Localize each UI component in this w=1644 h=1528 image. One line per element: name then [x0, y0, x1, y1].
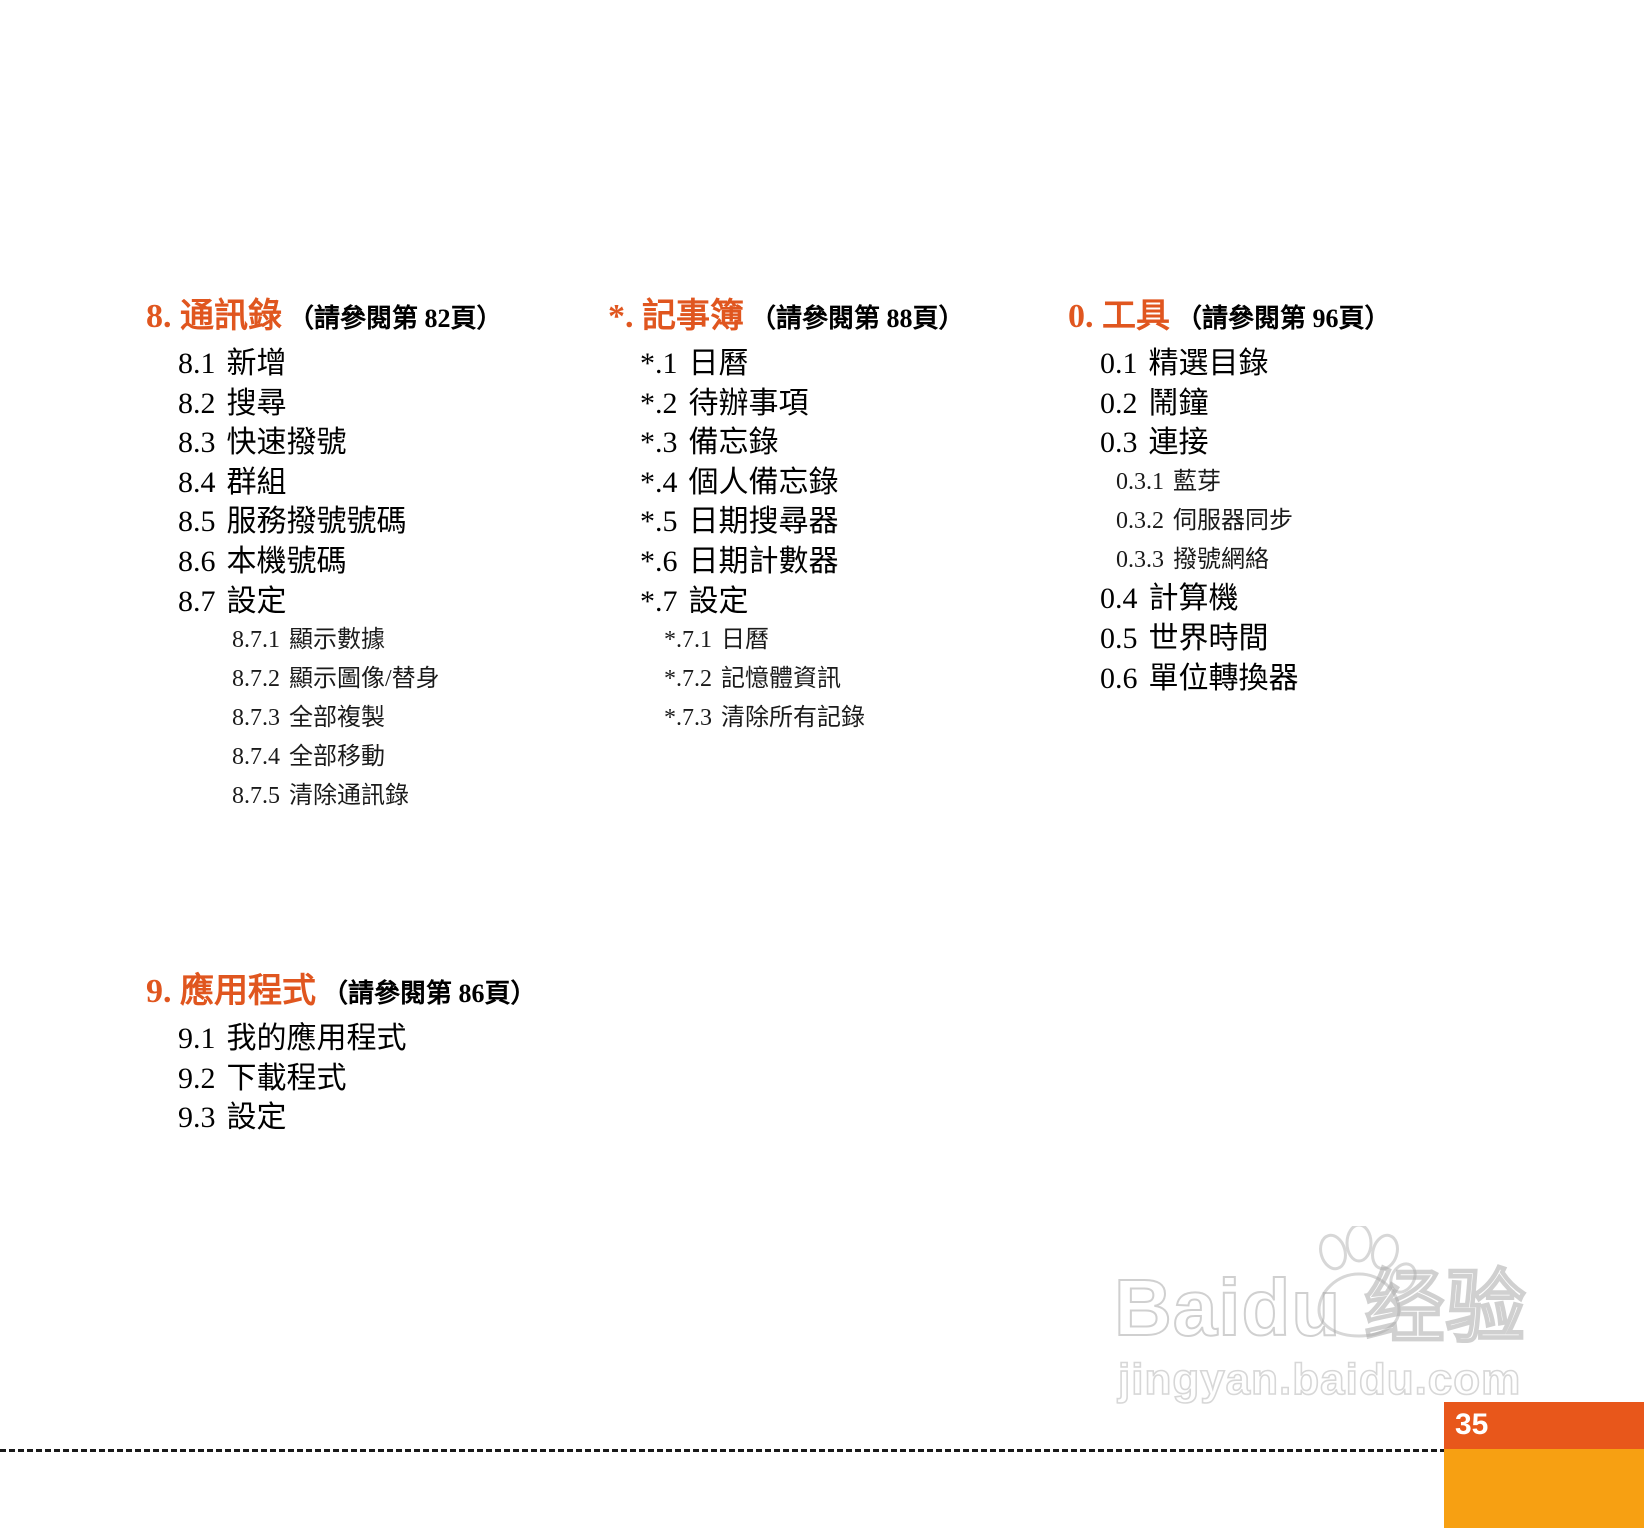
subitem-number: 0.3.3 — [1116, 547, 1164, 573]
section-heading-organizer: *. 記事簿（請參閱第 88頁） — [608, 300, 1058, 334]
subitem-number: 0.3.1 — [1116, 469, 1164, 495]
toc-item: 8.7設定 — [178, 582, 596, 622]
toc-item: *.4個人備忘錄 — [640, 463, 1058, 503]
subitem-label: 記憶體資訊 — [721, 666, 841, 692]
toc-section-tools: 0. 工具（請參閱第 96頁） 0.1精選目錄 0.2鬧鐘 0.3連接 0.3.… — [1068, 300, 1538, 698]
section-page-reference: （請參閱第 82頁） — [288, 304, 503, 333]
subitem-label: 藍芽 — [1173, 469, 1221, 495]
item-number: 8.6 — [178, 545, 216, 578]
subitem-number: 0.3.2 — [1116, 508, 1164, 534]
item-label: 鬧鐘 — [1149, 387, 1209, 420]
toc-item: 8.4群組 — [178, 463, 596, 503]
toc-subitem: *.7.3清除所有記錄 — [664, 699, 1058, 738]
section-page-reference: （請參閱第 88頁） — [750, 304, 965, 333]
toc-item: 8.3快速撥號 — [178, 423, 596, 463]
toc-item: 9.2下載程式 — [178, 1059, 646, 1099]
section-page-reference: （請參閱第 96頁） — [1176, 304, 1391, 333]
item-label: 世界時間 — [1149, 622, 1269, 655]
item-number: *.3 — [640, 426, 678, 459]
item-label: 備忘錄 — [689, 426, 779, 459]
item-label: 設定 — [227, 1101, 287, 1134]
toc-item: 9.1我的應用程式 — [178, 1019, 646, 1059]
subitem-label: 撥號網絡 — [1173, 547, 1269, 573]
item-label: 下載程式 — [227, 1062, 347, 1095]
item-label: 精選目錄 — [1149, 347, 1269, 380]
item-label: 日曆 — [689, 347, 749, 380]
toc-item: *.7設定 — [640, 582, 1058, 622]
item-number: 8.2 — [178, 387, 216, 420]
toc-subitem: *.7.1日曆 — [664, 621, 1058, 660]
item-label: 日期計數器 — [689, 545, 839, 578]
page-tab-bottom-block — [1444, 1449, 1644, 1528]
item-label: 日期搜尋器 — [689, 505, 839, 538]
item-number: *.4 — [640, 466, 678, 499]
toc-item: 0.1精選目錄 — [1100, 344, 1538, 384]
item-number: *.5 — [640, 505, 678, 538]
toc-item: 0.3連接 — [1100, 423, 1538, 463]
section-title: *. 記事簿 — [608, 298, 744, 335]
item-number: 0.3 — [1100, 426, 1138, 459]
subitem-number: 8.7.5 — [232, 783, 280, 809]
toc-subitem: 8.7.2顯示圖像/替身 — [232, 660, 596, 699]
item-label: 我的應用程式 — [227, 1022, 407, 1055]
page-cut-dashed-line — [0, 1449, 1644, 1452]
item-label: 連接 — [1149, 426, 1209, 459]
toc-subitem: 8.7.1顯示數據 — [232, 621, 596, 660]
item-label: 待辦事項 — [689, 387, 809, 420]
item-number: 9.1 — [178, 1022, 216, 1055]
page-number-tab: 35 — [1444, 1402, 1644, 1528]
toc-subitem: 0.3.3撥號網絡 — [1116, 541, 1538, 580]
item-number: 0.2 — [1100, 387, 1138, 420]
paw-print-icon — [1297, 1226, 1417, 1346]
toc-item: 0.5世界時間 — [1100, 619, 1538, 659]
item-number: 8.5 — [178, 505, 216, 538]
item-number: *.1 — [640, 347, 678, 380]
item-label: 群組 — [227, 466, 287, 499]
toc-item: 8.6本機號碼 — [178, 542, 596, 582]
item-label: 服務撥號號碼 — [227, 505, 407, 538]
item-label: 單位轉換器 — [1149, 662, 1299, 695]
section-title: 9. 應用程式 — [146, 973, 316, 1010]
item-number: *.6 — [640, 545, 678, 578]
section-heading-applications: 9. 應用程式（請參閱第 86頁） — [146, 975, 646, 1009]
subitem-number: *.7.2 — [664, 666, 712, 692]
manual-page: 8. 通訊錄（請參閱第 82頁） 8.1新增 8.2搜尋 8.3快速撥號 8.4… — [0, 0, 1644, 1528]
item-number: *.2 — [640, 387, 678, 420]
section-heading-tools: 0. 工具（請參閱第 96頁） — [1068, 300, 1538, 334]
toc-subitem: 8.7.3全部複製 — [232, 699, 596, 738]
toc-subitem: 8.7.4全部移動 — [232, 738, 596, 777]
subitem-number: 8.7.2 — [232, 666, 280, 692]
toc-item: 0.6單位轉換器 — [1100, 659, 1538, 699]
subitem-label: 全部移動 — [289, 744, 385, 770]
page-number: 35 — [1455, 1408, 1488, 1441]
subitem-label: 顯示數據 — [289, 627, 385, 653]
watermark-url: jingyan.baidu.com — [1118, 1358, 1521, 1402]
item-number: 0.4 — [1100, 582, 1138, 615]
subitem-label: 全部複製 — [289, 705, 385, 731]
watermark-brand: Baidu 经验 — [1114, 1268, 1526, 1348]
item-number: 0.6 — [1100, 662, 1138, 695]
item-number: 8.7 — [178, 585, 216, 618]
item-number: 0.5 — [1100, 622, 1138, 655]
toc-subitem: 8.7.5清除通訊錄 — [232, 777, 596, 816]
item-label: 快速撥號 — [227, 426, 347, 459]
item-label: 搜尋 — [227, 387, 287, 420]
section-page-reference: （請參閱第 86頁） — [322, 979, 537, 1008]
subitem-label: 清除通訊錄 — [289, 783, 409, 809]
item-label: 設定 — [689, 585, 749, 618]
item-label: 設定 — [227, 585, 287, 618]
toc-section-organizer: *. 記事簿（請參閱第 88頁） *.1日曆 *.2待辦事項 *.3備忘錄 *.… — [608, 300, 1058, 738]
item-label: 計算機 — [1149, 582, 1239, 615]
subitem-label: 伺服器同步 — [1173, 508, 1293, 534]
item-label: 個人備忘錄 — [689, 466, 839, 499]
item-number: 8.1 — [178, 347, 216, 380]
toc-item: *.5日期搜尋器 — [640, 502, 1058, 542]
toc-item: 0.2鬧鐘 — [1100, 384, 1538, 424]
toc-subitem: 0.3.1藍芽 — [1116, 463, 1538, 502]
toc-section-contacts: 8. 通訊錄（請參閱第 82頁） 8.1新增 8.2搜尋 8.3快速撥號 8.4… — [146, 300, 596, 816]
item-number: *.7 — [640, 585, 678, 618]
toc-item: 8.5服務撥號號碼 — [178, 502, 596, 542]
subitem-label: 顯示圖像/替身 — [289, 666, 440, 692]
subitem-number: *.7.3 — [664, 705, 712, 731]
subitem-label: 日曆 — [721, 627, 769, 653]
item-number: 9.2 — [178, 1062, 216, 1095]
baidu-jingyan-watermark: Baidu 经验 jingyan.baidu.com — [1114, 1220, 1584, 1420]
section-heading-contacts: 8. 通訊錄（請參閱第 82頁） — [146, 300, 596, 334]
toc-item: *.1日曆 — [640, 344, 1058, 384]
toc-item: 8.1新增 — [178, 344, 596, 384]
subitem-label: 清除所有記錄 — [721, 705, 865, 731]
item-number: 0.1 — [1100, 347, 1138, 380]
subitem-number: *.7.1 — [664, 627, 712, 653]
toc-item: *.6日期計數器 — [640, 542, 1058, 582]
toc-subitem: 0.3.2伺服器同步 — [1116, 502, 1538, 541]
toc-item: 8.2搜尋 — [178, 384, 596, 424]
toc-subitem: *.7.2記憶體資訊 — [664, 660, 1058, 699]
toc-item: *.2待辦事項 — [640, 384, 1058, 424]
toc-item: *.3備忘錄 — [640, 423, 1058, 463]
toc-section-applications: 9. 應用程式（請參閱第 86頁） 9.1我的應用程式 9.2下載程式 9.3設… — [146, 975, 646, 1138]
toc-item: 0.4計算機 — [1100, 579, 1538, 619]
item-label: 新增 — [227, 347, 287, 380]
item-number: 9.3 — [178, 1101, 216, 1134]
item-number: 8.4 — [178, 466, 216, 499]
toc-item: 9.3設定 — [178, 1098, 646, 1138]
section-title: 8. 通訊錄 — [146, 298, 282, 335]
section-title: 0. 工具 — [1068, 298, 1170, 335]
subitem-number: 8.7.1 — [232, 627, 280, 653]
subitem-number: 8.7.4 — [232, 744, 280, 770]
item-number: 8.3 — [178, 426, 216, 459]
subitem-number: 8.7.3 — [232, 705, 280, 731]
item-label: 本機號碼 — [227, 545, 347, 578]
